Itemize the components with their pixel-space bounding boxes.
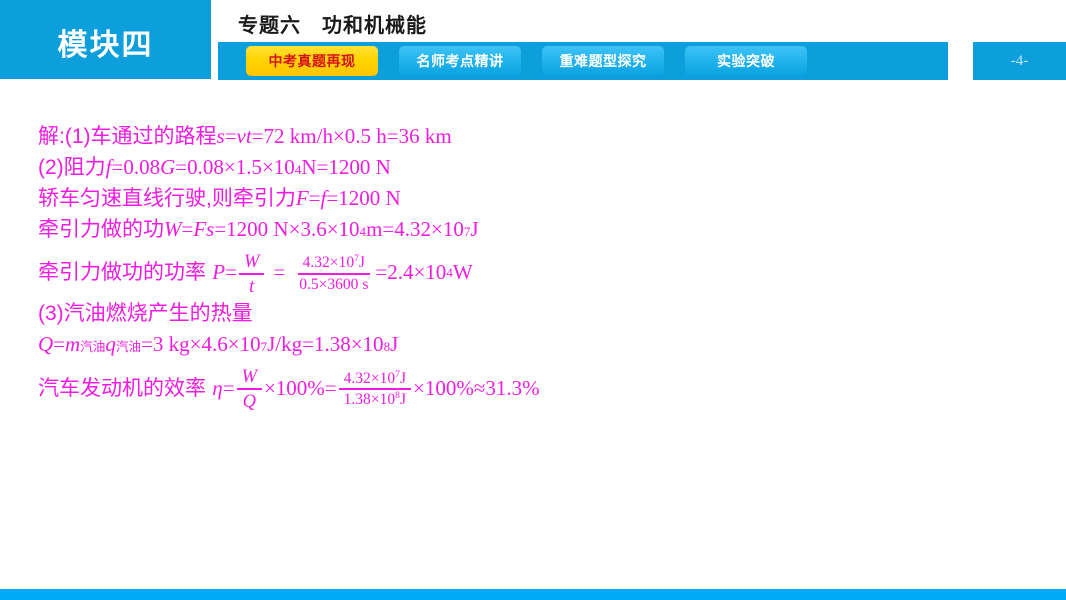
line7-eq1: = <box>53 334 65 355</box>
solution-line-1: 解:(1)车通过的路程s=vt=72 km/h×0.5 h=36 km <box>38 126 1038 147</box>
line4-rest: J <box>470 219 478 240</box>
line7-mid2: J/kg=1.38×10 <box>267 334 383 355</box>
solution-line-8: 汽车发动机的效率η= W Q ×100%= 4.32×107J 1.38×108… <box>38 365 1038 410</box>
fraction-numerator: W <box>237 366 262 390</box>
page-number-block: -4- <box>973 42 1066 80</box>
solution-line-7: Q=m汽油q汽油=3 kg×4.6×107 J/kg=1.38×108 J <box>38 334 1038 355</box>
line3-eq1: = <box>309 188 321 209</box>
line7-var-q: q <box>105 334 116 355</box>
fraction-denominator: 1.38×108J <box>339 390 411 408</box>
line7-var-Q: Q <box>38 334 53 355</box>
bottom-accent-bar <box>0 589 1066 600</box>
fraction-W-over-Q: W Q <box>237 366 262 411</box>
solution-line-2: (2)阻力f=0.08G=0.08×1.5×104 N=1200 N <box>38 157 1038 178</box>
line2-mid: =0.08×1.5×10 <box>175 157 295 178</box>
line4-eq1: = <box>182 219 194 240</box>
numerator-base: 4.32×10 <box>344 370 395 387</box>
fraction-denominator: t <box>244 275 259 297</box>
line6-text: (3)汽油燃烧产生的热量 <box>38 303 253 324</box>
line5-eq3: = <box>375 262 387 283</box>
line7-var-m: m <box>65 334 80 355</box>
line8-prefix: 汽车发动机的效率 <box>38 378 206 399</box>
line8-var-eta: η <box>212 378 222 399</box>
tab-zhongnan-tixing-tanjiu[interactable]: 重难题型探究 <box>542 46 664 76</box>
line5-result: 2.4×10 <box>387 262 446 283</box>
tab-label: 中考真题再现 <box>269 51 356 71</box>
solution-line-5: 牵引力做功的功率P= W t = 4.32×107J 0.5×3600 s =2… <box>38 250 1038 295</box>
fraction-energy-over-time: 4.32×107J 0.5×3600 s <box>294 254 373 293</box>
line2-eq1: =0.08 <box>112 157 161 178</box>
line8-eq1: = <box>223 378 235 399</box>
fraction-numerator: 4.32×107J <box>339 370 411 390</box>
line5-result-unit: W <box>453 262 473 283</box>
fraction-denominator: 0.5×3600 s <box>294 275 373 293</box>
line2-prefix: (2)阻力 <box>38 157 106 178</box>
fraction-numerator: 4.32×107J <box>298 254 370 274</box>
denominator-unit: J <box>400 391 406 408</box>
denominator-base: 1.38×10 <box>344 391 395 408</box>
fraction-numerator: W <box>239 251 264 275</box>
line7-rest: J <box>390 334 398 355</box>
line5-prefix: 牵引力做功的功率 <box>38 262 206 283</box>
line4-mid2: m=4.32×10 <box>366 219 464 240</box>
line3-var-F: F <box>296 188 309 209</box>
line4-mid: =1200 N×3.6×10 <box>214 219 359 240</box>
line3-prefix: 轿车匀速直线行驶,则牵引力 <box>38 188 296 209</box>
line5-eq2: = <box>266 262 292 283</box>
line2-var-G: G <box>160 157 175 178</box>
line3-rest: =1200 N <box>326 188 400 209</box>
line8-rest: ×100%≈31.3% <box>413 378 540 399</box>
numerator-base: 4.32×10 <box>303 254 354 271</box>
line1-var-s: s <box>217 126 225 147</box>
line1-var-vt: vt <box>237 126 252 147</box>
tab-shiyan-tupo[interactable]: 实验突破 <box>685 46 807 76</box>
fraction-W-over-t: W t <box>239 251 264 296</box>
line2-rest: N=1200 N <box>301 157 390 178</box>
tab-label: 实验突破 <box>717 51 775 71</box>
line4-var-Fs: Fs <box>193 219 214 240</box>
line4-prefix: 牵引力做的功 <box>38 219 164 240</box>
tab-label: 重难题型探究 <box>560 51 647 71</box>
tab-mingshi-kaodian-jingjiang[interactable]: 名师考点精讲 <box>399 46 521 76</box>
numerator-unit: J <box>359 254 365 271</box>
module-label: 模块四 <box>0 0 211 79</box>
line1-rest: =72 km/h×0.5 h=36 km <box>252 126 452 147</box>
solution-line-3: 轿车匀速直线行驶,则牵引力F=f=1200 N <box>38 188 1038 209</box>
line7-mid: =3 kg×4.6×10 <box>141 334 261 355</box>
fraction-denominator: Q <box>238 390 261 412</box>
solution-body: 解:(1)车通过的路程s=vt=72 km/h×0.5 h=36 km (2)阻… <box>38 126 1038 417</box>
page-number: -4- <box>1011 53 1029 70</box>
solution-line-6: (3)汽油燃烧产生的热量 <box>38 303 1038 324</box>
numerator-unit: J <box>400 370 406 387</box>
line1-prefix: 解:(1)车通过的路程 <box>38 126 217 147</box>
tab-zhongkao-zhenti-zaixian[interactable]: 中考真题再现 <box>246 46 378 76</box>
fraction-work-over-heat: 4.32×107J 1.38×108J <box>339 370 411 409</box>
line5-eq1: = <box>225 262 237 283</box>
module-banner: 模块四 <box>0 0 211 79</box>
line1-eq1: = <box>225 126 237 147</box>
page-title: 专题六 功和机械能 <box>238 9 427 38</box>
line4-var-W: W <box>164 219 182 240</box>
tab-label: 名师考点精讲 <box>417 51 504 71</box>
line5-var-P: P <box>212 262 225 283</box>
solution-line-4: 牵引力做的功W=Fs=1200 N×3.6×104 m=4.32×107 J <box>38 219 1038 240</box>
tab-bar: 中考真题再现 名师考点精讲 重难题型探究 实验突破 <box>218 42 948 80</box>
line8-mid: ×100%= <box>264 378 337 399</box>
